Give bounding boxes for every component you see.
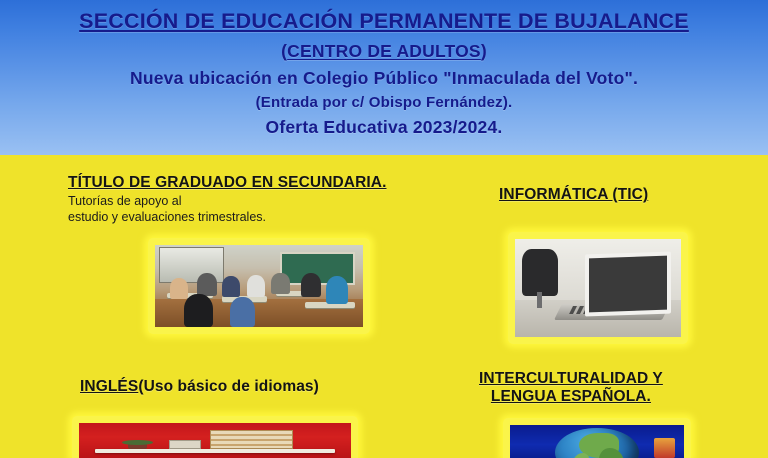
classroom-student [271, 273, 290, 294]
poster-offer-year: Oferta Educativa 2023/2024. [0, 117, 768, 138]
section-title-secundaria-text: TÍTULO DE GRADUADO EN SECUNDARIA. [68, 174, 386, 191]
poster-canvas: SECCIÓN DE EDUCACIÓN PERMANENTE DE BUJAL… [0, 0, 768, 458]
classroom-photo-inner [155, 245, 363, 327]
section-title-secundaria: TÍTULO DE GRADUADO EN SECUNDARIA. [68, 174, 386, 192]
classroom-student [222, 276, 241, 297]
shelf-plant-icon [128, 442, 147, 450]
section-subtitle-secundaria: Tutorías de apoyo al estudio y evaluacio… [68, 193, 266, 225]
section-title-informatica: INFORMÁTICA (TIC) [499, 186, 648, 204]
subtitle-close-paren: ) [481, 41, 487, 61]
classroom-student [326, 276, 349, 304]
laptop-photo [508, 232, 688, 344]
section-title-interculturalidad-line2: LENGUA ESPAÑOLA. [491, 388, 651, 405]
office-chair-icon [522, 249, 559, 296]
subtitle-center-adultos: CENTRO DE ADULTOS [287, 41, 481, 61]
classroom-photo [148, 238, 370, 334]
section-title-ingles: INGLÉS(Uso básico de idiomas) [80, 378, 319, 396]
section-title-ingles-note: (Uso básico de idiomas) [138, 378, 319, 395]
globe-flag-icon [654, 438, 675, 458]
poster-entrance: (Entrada por c/ Obispo Fernández). [0, 94, 768, 112]
shelf-board [95, 449, 334, 453]
globe-landmass [599, 448, 624, 458]
poster-subtitle: (CENTRO DE ADULTOS) [0, 41, 768, 61]
laptop-photo-inner [515, 239, 681, 337]
classroom-student [301, 273, 322, 298]
globe-photo-inner [510, 425, 684, 458]
classroom-student [230, 297, 255, 327]
shelf-books-icon [210, 430, 294, 450]
poster-location: Nueva ubicación en Colegio Público "Inma… [0, 68, 768, 89]
classroom-student [184, 294, 213, 327]
classroom-student [247, 275, 266, 297]
classroom-student [170, 278, 189, 299]
classroom-student [197, 273, 218, 296]
globe-photo [503, 418, 691, 458]
red-shelf-photo-inner [79, 423, 351, 458]
shelf-box-icon [169, 440, 201, 449]
header-text-block: SECCIÓN DE EDUCACIÓN PERMANENTE DE BUJAL… [0, 0, 768, 138]
poster-title: SECCIÓN DE EDUCACIÓN PERMANENTE DE BUJAL… [0, 9, 768, 33]
laptop-screen-icon [585, 251, 671, 316]
section-title-informatica-text: INFORMÁTICA (TIC) [499, 186, 648, 203]
section-title-interculturalidad: INTERCULTURALIDAD YLENGUA ESPAÑOLA. [479, 370, 663, 407]
office-chair-stem [537, 292, 542, 308]
red-shelf-photo [72, 416, 358, 458]
section-title-interculturalidad-line1: INTERCULTURALIDAD Y [479, 370, 663, 387]
section-title-ingles-main: INGLÉS [80, 378, 138, 395]
